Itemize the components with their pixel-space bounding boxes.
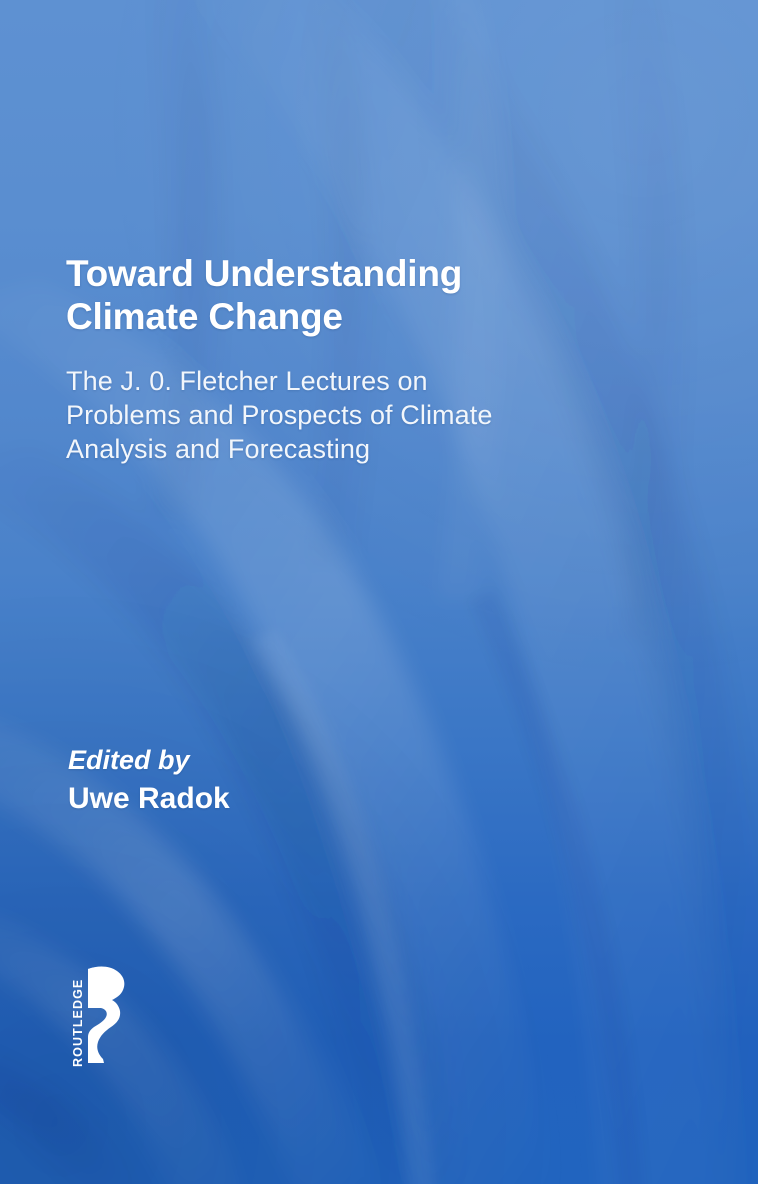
book-subtitle-line-3: Analysis and Forecasting	[66, 432, 666, 466]
book-title-line-1: Toward Understanding	[66, 252, 626, 295]
book-title-line-2: Climate Change	[66, 295, 626, 338]
editor-label: Edited by	[68, 744, 230, 777]
book-title: Toward Understanding Climate Change	[66, 252, 626, 338]
editor-credit: Edited by Uwe Radok	[68, 744, 230, 817]
book-subtitle-line-1: The J. 0. Fletcher Lectures on	[66, 364, 666, 398]
book-subtitle-line-2: Problems and Prospects of Climate	[66, 398, 666, 432]
cover-content: Toward Understanding Climate Change The …	[0, 0, 758, 1184]
routledge-logo: ROUTLEDGE	[52, 963, 162, 1071]
editor-name: Uwe Radok	[68, 781, 230, 817]
routledge-r-face-mark	[88, 967, 124, 1063]
routledge-wordmark: ROUTLEDGE	[71, 979, 85, 1067]
book-cover: Toward Understanding Climate Change The …	[0, 0, 758, 1184]
book-subtitle: The J. 0. Fletcher Lectures on Problems …	[66, 364, 666, 466]
